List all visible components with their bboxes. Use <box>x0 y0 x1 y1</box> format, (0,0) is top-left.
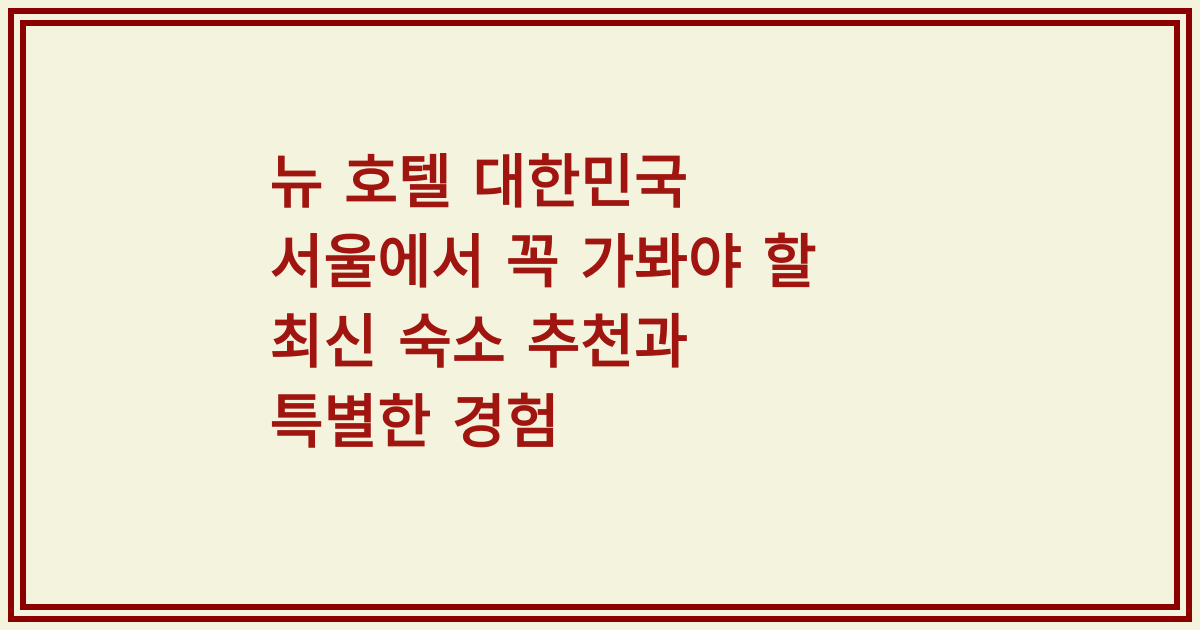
poster-canvas: 뉴 호텔 대한민국 서울에서 꼭 가봐야 할 최신 숙소 추천과 특별한 경험 <box>0 0 1200 630</box>
headline-line-4: 특별한 경험 <box>270 382 1130 462</box>
headline-title: 뉴 호텔 대한민국 서울에서 꼭 가봐야 할 최신 숙소 추천과 특별한 경험 <box>270 142 1130 462</box>
headline-line-1: 뉴 호텔 대한민국 <box>270 142 1130 222</box>
headline-line-2: 서울에서 꼭 가봐야 할 <box>270 222 1130 302</box>
headline-line-3: 최신 숙소 추천과 <box>270 302 1130 382</box>
